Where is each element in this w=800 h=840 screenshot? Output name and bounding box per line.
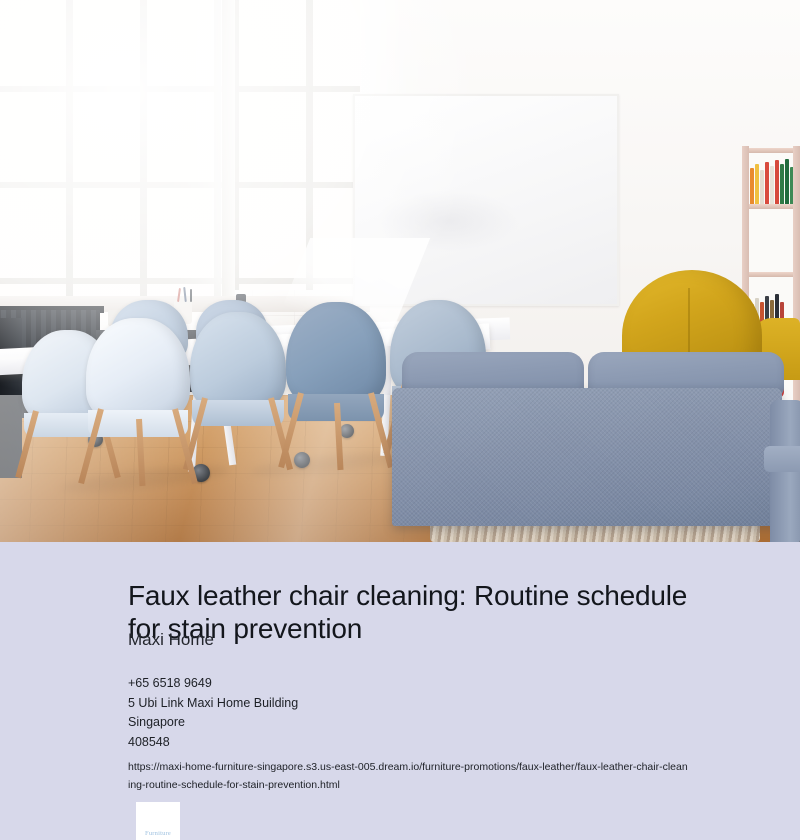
- page-root: Faux leather chair cleaning: Routine sch…: [0, 0, 800, 840]
- chair-shell: [86, 318, 190, 422]
- sofa-icon: [392, 344, 800, 542]
- brand-name: Maxi Home: [128, 630, 214, 650]
- book-icon: [780, 164, 784, 204]
- molded-chair-icon: [286, 302, 386, 470]
- window-icon: [0, 0, 232, 320]
- phone-number[interactable]: +65 6518 9649: [128, 674, 748, 694]
- address-line-1: 5 Ubi Link Maxi Home Building: [128, 694, 748, 714]
- book-icon: [775, 160, 779, 204]
- address-postal-code: 408548: [128, 733, 748, 753]
- book-icon: [765, 162, 769, 204]
- sofa-arm-pad: [764, 446, 800, 472]
- furniture-logo-card[interactable]: Furniture: [136, 802, 180, 840]
- interior-scene: [0, 0, 800, 542]
- sofa-backrest: [392, 388, 782, 526]
- book-icon: [755, 164, 759, 204]
- window-mullions-horizontal: [0, 0, 232, 320]
- shelf-board: [742, 148, 800, 153]
- shelf-cavity: [749, 209, 793, 272]
- book-icon: [770, 166, 774, 204]
- shelf-board: [742, 204, 800, 209]
- book-row: [750, 159, 794, 204]
- content-section: Faux leather chair cleaning: Routine sch…: [0, 542, 800, 840]
- book-icon: [750, 168, 754, 204]
- molded-chair-icon: [190, 312, 286, 472]
- address-city: Singapore: [128, 713, 748, 733]
- hero-photo: [0, 0, 800, 542]
- chair-shell: [286, 302, 386, 406]
- book-icon: [785, 159, 789, 204]
- source-url[interactable]: https://maxi-home-furniture-singapore.s3…: [128, 758, 688, 794]
- chair-shell: [190, 312, 286, 411]
- contact-block: +65 6518 9649 5 Ubi Link Maxi Home Build…: [128, 674, 748, 752]
- furniture-logo-label: Furniture: [136, 830, 180, 837]
- molded-chair-icon: [86, 318, 190, 486]
- book-icon: [760, 170, 764, 204]
- shelf-cavity: [749, 153, 793, 204]
- pen-icon: [190, 289, 192, 302]
